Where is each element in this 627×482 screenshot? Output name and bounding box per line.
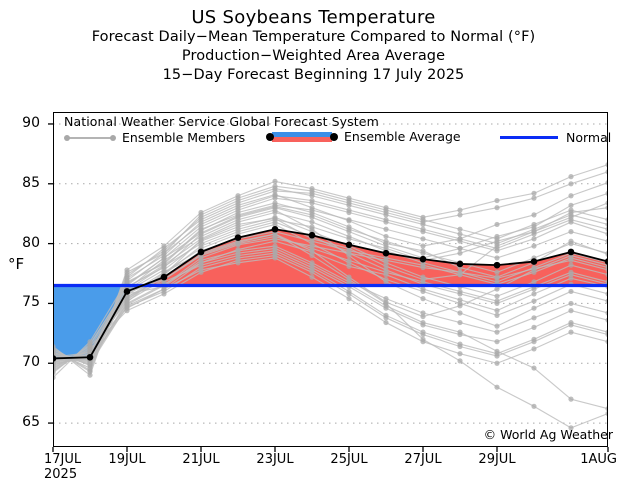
legend-item-normal: Normal: [498, 130, 611, 145]
copyright-credit: © World Ag Weather: [484, 427, 613, 442]
x-axis-tick-label: 1AUG: [557, 452, 617, 467]
x-axis-tick-label: 25JUL: [314, 452, 384, 467]
x-axis-year: 2025: [44, 467, 77, 482]
chart-legend: National Weather Service Global Forecast…: [60, 114, 605, 147]
plot-frame: [53, 112, 608, 447]
legend-label-ensemble-members: Ensemble Members: [122, 130, 245, 145]
y-axis-tick-label: 90: [6, 115, 40, 131]
legend-entries: Ensemble Members Ensemble Average Normal: [60, 130, 605, 147]
ensemble-average-band-icon: [266, 131, 338, 143]
y-axis-tick-label: 65: [6, 414, 40, 430]
ensemble-members-line-icon: [64, 132, 116, 143]
y-axis-title: °F: [8, 255, 24, 273]
x-axis-tick-label: 27JUL: [388, 452, 458, 467]
legend-source-label: National Weather Service Global Forecast…: [60, 114, 605, 129]
legend-item-ensemble-average: Ensemble Average: [266, 129, 461, 144]
normal-line-icon: [498, 133, 560, 143]
x-axis-tick-label: 29JUL: [462, 452, 532, 467]
y-axis-tick-label: 85: [6, 175, 40, 191]
y-axis-tick-label: 75: [6, 294, 40, 310]
x-axis-tick-label: 21JUL: [166, 452, 236, 467]
chart-page: US Soybeans Temperature Forecast Daily−M…: [0, 0, 627, 482]
legend-item-ensemble-members: Ensemble Members: [64, 130, 245, 145]
legend-label-ensemble-average: Ensemble Average: [344, 129, 461, 144]
x-axis-tick-label: 23JUL: [240, 452, 310, 467]
y-axis-tick-label: 70: [6, 354, 40, 370]
y-axis-tick-label: 80: [6, 235, 40, 251]
legend-label-normal: Normal: [566, 130, 611, 145]
x-axis-tick-label: 19JUL: [92, 452, 162, 467]
